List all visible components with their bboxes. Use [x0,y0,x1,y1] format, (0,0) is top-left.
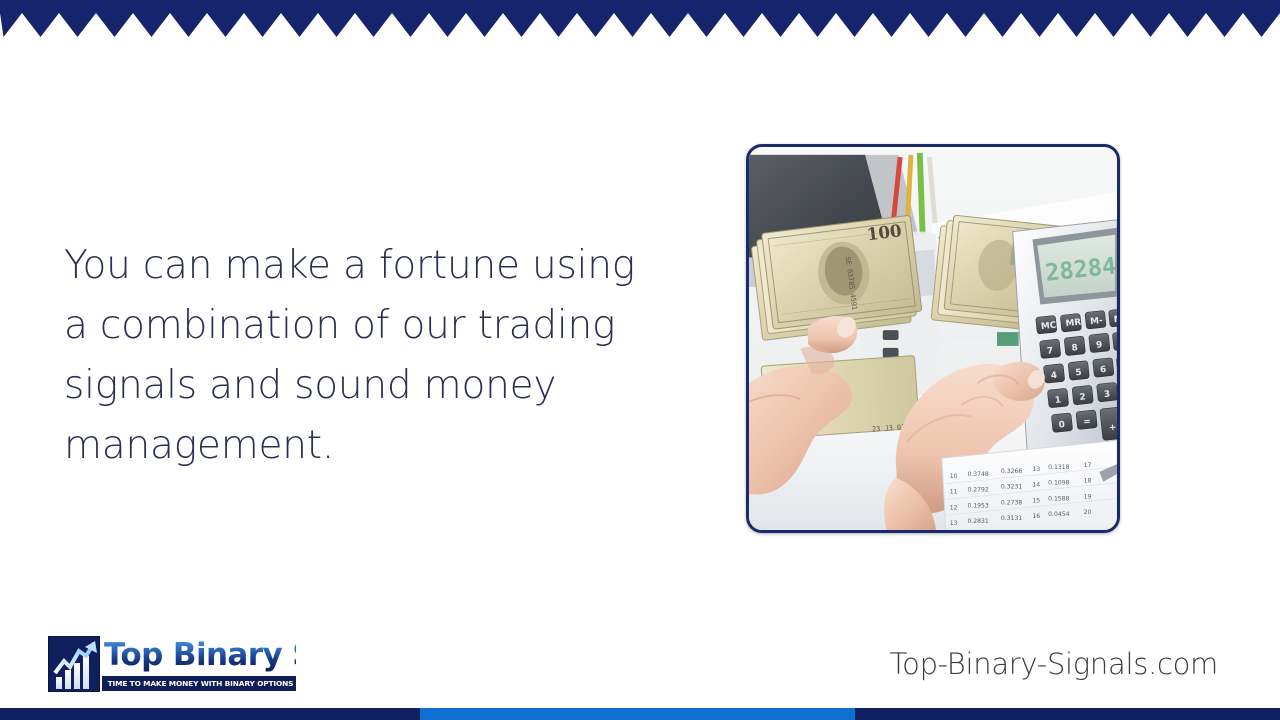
logo-tagline: TIME TO MAKE MONEY WITH BINARY OPTIONS [102,676,296,691]
svg-text:0.1588: 0.1588 [1048,495,1069,502]
headline-text: You can make a fortune using a combinati… [64,236,664,476]
growth-chart-icon [48,636,100,692]
svg-text:14: 14 [1032,482,1040,489]
svg-text:18: 18 [1084,478,1092,485]
slide-canvas: You can make a fortune using a combinati… [0,0,1280,720]
money-calculator-photo: 100 SE 03785 4591 23 J3 03785 4591 [749,147,1117,530]
svg-text:10: 10 [950,473,958,480]
svg-text:=: = [1083,417,1091,428]
svg-text:M-: M- [1090,316,1104,327]
svg-text:15: 15 [1032,497,1040,504]
svg-text:MR: MR [1065,318,1082,330]
svg-text:M+: M+ [1113,314,1117,326]
svg-text:0.1098: 0.1098 [1048,480,1069,487]
svg-text:0.2738: 0.2738 [1001,499,1022,506]
svg-text:1: 1 [1054,395,1061,406]
svg-text:20: 20 [1084,509,1092,516]
svg-text:19: 19 [1084,493,1092,500]
svg-text:+: + [1109,423,1117,434]
svg-text:0.3231: 0.3231 [1001,484,1022,491]
bottom-bar-segment-middle [420,708,855,720]
bottom-accent-bar [0,708,1280,720]
svg-text:16: 16 [1032,513,1040,520]
svg-text:0.1953: 0.1953 [967,502,988,509]
svg-text:9: 9 [1096,340,1103,351]
logo-wordmark: Top Binary Signals [104,636,296,674]
svg-text:7: 7 [1046,346,1053,357]
svg-text:0.3266: 0.3266 [1001,468,1022,475]
svg-text:13: 13 [950,520,958,527]
svg-text:0.2792: 0.2792 [967,487,988,494]
svg-text:12: 12 [950,504,958,511]
svg-text:6: 6 [1100,365,1107,376]
bottom-bar-segment-right [855,708,1280,720]
svg-text:5: 5 [1075,368,1082,379]
brand-logo[interactable]: Top Binary Signals TIME TO MAKE MONEY WI… [48,636,296,694]
svg-text:17: 17 [1084,462,1092,469]
svg-text:2: 2 [1079,392,1086,403]
top-zigzag-border [0,0,1280,38]
svg-text:0.3748: 0.3748 [967,471,988,478]
svg-text:0.1318: 0.1318 [1048,464,1069,471]
bottom-bar-segment-left [0,708,420,720]
site-url[interactable]: Top-Binary-Signals.com [890,644,1218,684]
svg-text:0.0454: 0.0454 [1048,511,1069,518]
svg-text:MC: MC [1041,321,1057,333]
svg-text:0.3131: 0.3131 [1001,515,1022,522]
svg-text:3: 3 [1104,389,1111,400]
svg-text:0: 0 [1058,420,1065,431]
svg-text:13: 13 [1032,466,1040,473]
svg-text:8: 8 [1071,343,1078,354]
svg-text:0.2831: 0.2831 [967,518,988,525]
photo-frame: 100 SE 03785 4591 23 J3 03785 4591 [746,144,1120,533]
svg-text:11: 11 [950,489,958,496]
svg-text:4: 4 [1050,371,1057,382]
